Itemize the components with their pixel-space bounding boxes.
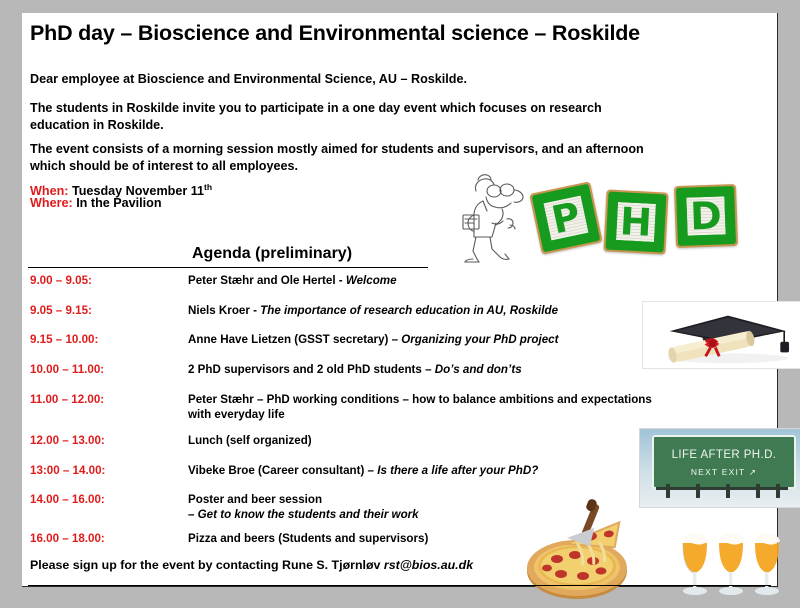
lead-paragraph-2: The students in Roskilde invite you to p…	[30, 100, 655, 133]
sign-arrow-icon: ↗	[749, 467, 757, 477]
block-letter-h: H	[603, 189, 668, 254]
agenda-description: Lunch (self organized)	[188, 434, 668, 449]
where-label: Where:	[30, 196, 73, 210]
agenda-time: 13:00 – 14.00:	[30, 464, 180, 477]
phd-blocks-image: P H D	[535, 181, 780, 259]
agenda-description: Niels Kroer - The importance of research…	[188, 304, 668, 319]
lead-paragraph-1: Dear employee at Bioscience and Environm…	[30, 71, 655, 88]
contact-email: rst@bios.au.dk	[384, 558, 473, 572]
agenda-time: 9.00 – 9.05:	[30, 274, 180, 287]
block-d-letter: D	[690, 196, 723, 235]
agenda-description: Peter Stæhr and Ole Hertel - Welcome	[188, 274, 668, 289]
scientist-cartoon-icon	[450, 171, 542, 263]
beer-glasses-image	[677, 525, 789, 601]
graduation-cap-image	[642, 301, 800, 369]
lead-paragraph-3: The event consists of a morning session …	[30, 141, 655, 174]
sign-line-2: NEXT EXIT ↗	[654, 467, 794, 478]
agenda-time: 14.00 – 16.00:	[30, 493, 180, 506]
signup-text: Please sign up for the event by contacti…	[30, 558, 384, 572]
agenda-time: 9.15 – 10.00:	[30, 333, 180, 346]
block-letter-d: D	[674, 184, 738, 248]
agenda-time: 12.00 – 13.00:	[30, 434, 180, 447]
agenda-description: Anne Have Lietzen (GSST secretary) – Org…	[188, 333, 668, 348]
block-letter-p: P	[529, 181, 603, 255]
page-title: PhD day – Bioscience and Environmental s…	[30, 21, 750, 46]
pizza-image	[517, 497, 642, 603]
sign-support-posts	[656, 484, 788, 502]
poster-page: PhD day – Bioscience and Environmental s…	[22, 13, 778, 587]
agenda-heading: Agenda (preliminary)	[192, 245, 352, 263]
event-where: Where: In the Pavilion	[30, 195, 162, 211]
agenda-time: 9.05 – 9.15:	[30, 304, 180, 317]
agenda-time: 10.00 – 11.00:	[30, 363, 180, 376]
when-ordinal-suffix: th	[204, 182, 212, 192]
agenda-description: 2 PhD supervisors and 2 old PhD students…	[188, 363, 668, 378]
life-after-phd-sign-image: LIFE AFTER PH.D. NEXT EXIT ↗	[639, 428, 800, 508]
footer-divider	[28, 585, 771, 586]
agenda-time: 16.00 – 18.00:	[30, 532, 180, 545]
agenda-description: Peter Stæhr – PhD working conditions – h…	[188, 393, 668, 422]
agenda-divider-top	[28, 267, 428, 268]
sign-line-1: LIFE AFTER PH.D.	[654, 449, 794, 461]
block-h-letter: H	[619, 202, 653, 242]
agenda-description: Vibeke Broe (Career consultant) – Is the…	[188, 464, 668, 479]
signup-footer: Please sign up for the event by contacti…	[30, 558, 473, 572]
agenda-time: 11.00 – 12.00:	[30, 393, 180, 406]
where-value: In the Pavilion	[76, 196, 161, 210]
highway-sign-board: LIFE AFTER PH.D. NEXT EXIT ↗	[652, 435, 796, 489]
